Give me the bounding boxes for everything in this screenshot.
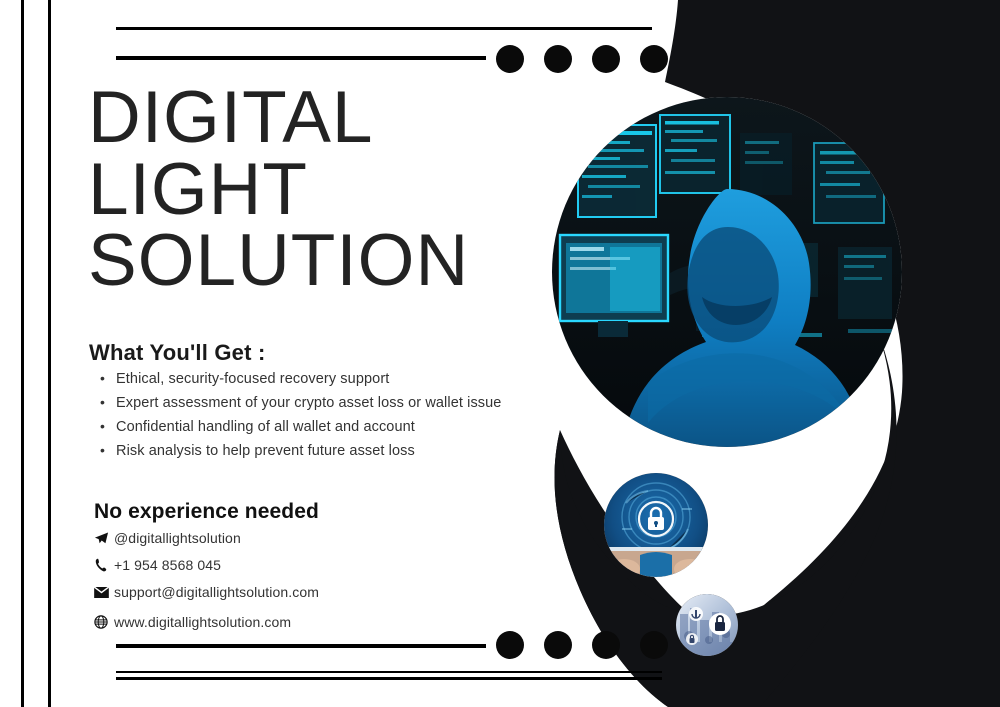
contact-list: @digitallightsolution +1 954 8568 045 su… [94, 529, 454, 643]
lock-photo-small-inner [676, 594, 738, 656]
list-item: Ethical, security-focused recovery suppo… [100, 372, 540, 387]
dot [592, 45, 620, 73]
decorative-dots-top [496, 45, 668, 73]
flyer-canvas: DIGITAL LIGHT SOLUTION What You'll Get :… [0, 0, 1000, 707]
lock-photo-small [676, 594, 738, 656]
contact-row-phone[interactable]: +1 954 8568 045 [94, 556, 454, 574]
dot [544, 631, 572, 659]
vertical-rule-outer [21, 0, 24, 707]
list-item: Expert assessment of your crypto asset l… [100, 396, 540, 411]
lock-photo-medium [604, 473, 708, 577]
dot [640, 631, 668, 659]
contact-row-telegram[interactable]: @digitallightsolution [94, 529, 454, 547]
hero-photo-hooded-hacker [552, 97, 902, 447]
benefits-list: Ethical, security-focused recovery suppo… [100, 372, 540, 468]
bottom-rule-thick [116, 644, 486, 648]
globe-icon [94, 615, 114, 629]
dot [496, 45, 524, 73]
hero-artwork [552, 97, 902, 447]
contact-row-email[interactable]: support@digitallightsolution.com [94, 583, 454, 601]
list-item: Risk analysis to help prevent future ass… [100, 444, 540, 459]
list-item: Confidential handling of all wallet and … [100, 420, 540, 435]
contact-telegram-text: @digitallightsolution [114, 530, 241, 546]
bottom-rule-thin-2 [116, 677, 662, 680]
benefits-heading: What You'll Get : [89, 340, 265, 366]
decorative-dots-bottom [496, 631, 668, 659]
hero-photo-inner [552, 97, 902, 447]
top-rule-lower [116, 56, 486, 60]
bottom-rule-thin-1 [116, 671, 662, 673]
dot [544, 45, 572, 73]
contact-heading: No experience needed [94, 500, 319, 524]
contact-phone-text: +1 954 8568 045 [114, 557, 221, 573]
dot [640, 45, 668, 73]
dot [496, 631, 524, 659]
contact-website-text: www.digitallightsolution.com [114, 614, 291, 630]
page-title: DIGITAL LIGHT SOLUTION [88, 82, 588, 297]
lock-photo-medium-inner [604, 473, 708, 577]
lock-medium-artwork [604, 473, 708, 577]
email-icon [94, 587, 114, 598]
phone-icon [94, 558, 114, 572]
contact-row-website[interactable]: www.digitallightsolution.com [94, 613, 454, 631]
telegram-icon [94, 531, 114, 546]
dot [592, 631, 620, 659]
contact-email-text: support@digitallightsolution.com [114, 584, 319, 600]
top-rule-upper [116, 27, 652, 30]
lock-small-artwork [676, 594, 738, 656]
vertical-rule-inner [48, 0, 51, 707]
